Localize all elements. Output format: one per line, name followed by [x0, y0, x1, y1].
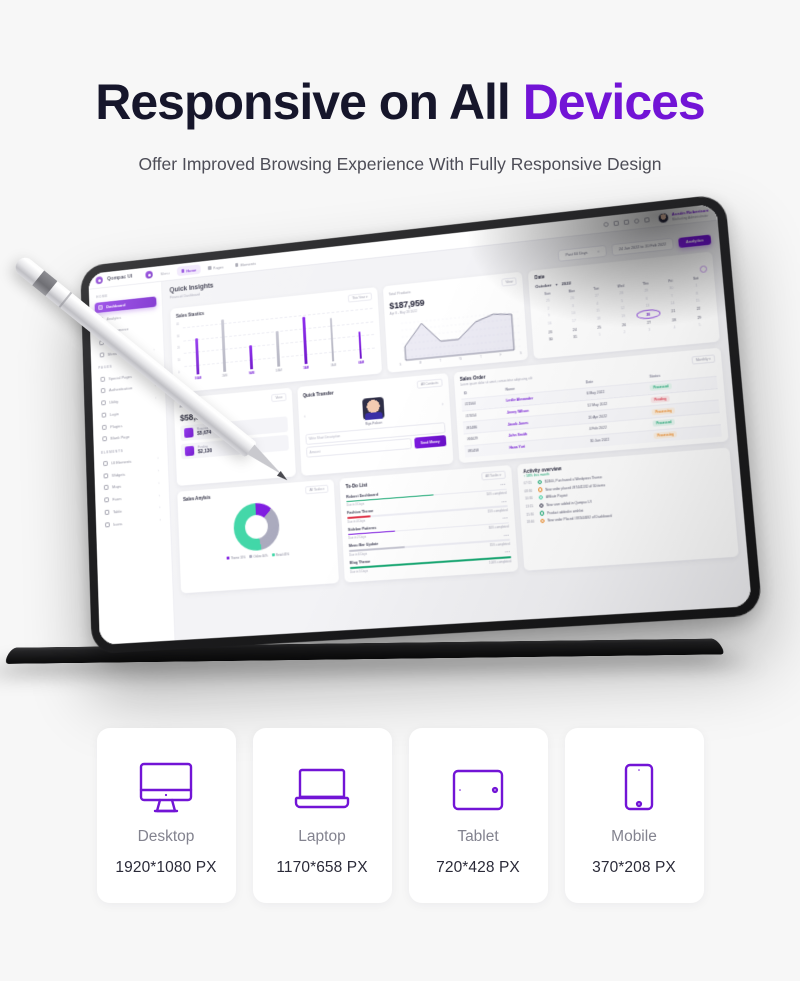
device-resolution: 1170*658 PX: [276, 859, 367, 877]
sales-order-chip[interactable]: Monthly ▾: [691, 354, 715, 365]
activity-text: Affiliate Payout: [546, 494, 568, 500]
total-products-card: Total Products View $187,959 Apr 8 - May…: [382, 271, 528, 373]
sidebar-label: Analytics: [107, 315, 122, 321]
filter-label: This Year: [352, 295, 365, 300]
sidebar-heading-elements: ELEMENTS: [101, 445, 162, 454]
sidebar-label: Form: [112, 496, 121, 501]
activity-time: 08:30: [524, 488, 534, 493]
more-options-icon[interactable]: •••: [504, 532, 510, 538]
sidebar-label: Authentication: [109, 386, 132, 393]
todo-pct: 30% completed: [488, 525, 508, 531]
sidebar-label: Icons: [113, 521, 122, 527]
activity-time: 07:15: [524, 480, 534, 485]
more-options-icon[interactable]: •••: [502, 515, 508, 520]
maps-icon: [104, 485, 109, 490]
device-resolution: 1920*1080 PX: [115, 859, 216, 877]
page-title: Responsive on All Devices: [0, 74, 800, 130]
todo-due: Due in 4 Days: [347, 519, 365, 524]
legend-item: Retail 45%: [271, 552, 289, 557]
todo-name: Menu Bar Update: [349, 542, 379, 548]
fullscreen-icon[interactable]: [644, 217, 650, 223]
chevron-right-icon: ›: [155, 384, 156, 388]
bar-label: 1AM: [303, 366, 309, 370]
more-options-icon[interactable]: •••: [505, 549, 511, 555]
x-tick: T: [439, 360, 441, 363]
status-badge: Processed: [650, 383, 672, 391]
todo-pct: 35% completed: [490, 542, 510, 548]
sidebar-label: Dashboard: [106, 303, 125, 310]
todo-list-chip[interactable]: All Tasks ▾: [481, 470, 505, 480]
pages-icon: [208, 266, 211, 270]
legend-label: Online: [253, 554, 261, 559]
todo-list-card: To-Do List All Tasks ▾ Robust Dashboard•…: [339, 465, 518, 583]
x-tick: T: [480, 356, 482, 359]
calendar-day[interactable]: 3: [637, 326, 661, 335]
bar-label: 2AM: [222, 373, 227, 377]
todo-due: Due in 3 Days: [346, 502, 364, 507]
sales-statistics-title: Sales Stastics: [176, 311, 204, 319]
prev-contact-arrow[interactable]: ‹: [304, 414, 306, 420]
chevron-right-icon: ›: [154, 372, 155, 376]
sidebar-label: Login: [110, 411, 119, 417]
activity-time: 15:30: [526, 512, 536, 517]
x-tick: S: [520, 352, 522, 355]
cart-icon[interactable]: [624, 219, 630, 224]
activity-dot-icon: [540, 519, 545, 524]
cell-id: #85458: [464, 442, 507, 457]
donut: [233, 501, 281, 552]
chip-label: All Tasks: [485, 473, 498, 478]
analytics-icon: [99, 317, 104, 322]
icons-icon: [105, 522, 110, 527]
activity-dot-icon: [538, 495, 543, 500]
device-name: Mobile: [611, 828, 657, 846]
bar-column: 1AM: [290, 309, 320, 371]
calendar-year[interactable]: 2022: [561, 280, 571, 286]
topnav-item-elements[interactable]: Elements: [231, 258, 260, 270]
calendar-month[interactable]: October: [535, 282, 551, 289]
menu-style-icon: [100, 353, 105, 358]
sidebar: HOME Dashboard Analytics E: [89, 282, 176, 645]
todo-due: Due in 5 Days: [350, 568, 368, 573]
x-tick: M: [419, 362, 421, 365]
analytics-button[interactable]: Analytics: [678, 234, 711, 247]
page-title-accent: Devices: [523, 74, 705, 130]
sidebar-label: Widgets: [112, 472, 126, 478]
todo-due: Due in 6 Days: [349, 552, 367, 557]
todo-pct: 15% completed: [487, 508, 507, 514]
sales-statistics-filter[interactable]: This Year ▾: [348, 292, 372, 302]
calendar-card: Date October ▾ 2022 Sun: [528, 251, 720, 359]
bar-label: 6AM: [358, 360, 364, 364]
range-select[interactable]: Past 60 Days ▾: [558, 245, 607, 262]
chevron-right-icon: ›: [159, 506, 160, 510]
chevron-right-icon: ›: [157, 457, 158, 461]
todo-pct: 50% completed: [486, 491, 506, 497]
activity-dot-icon: [539, 503, 544, 508]
sidebar-label: Crypto: [107, 339, 118, 345]
tablet-frame: Qompac UI Menu Home Pages: [80, 194, 763, 655]
dashboard-app: Qompac UI Menu Home Pages: [88, 204, 752, 645]
device-card-laptop[interactable]: Laptop 1170*658 PX: [253, 728, 392, 903]
activity-text: Product added in wishlist: [547, 508, 584, 515]
language-icon[interactable]: [613, 220, 618, 225]
device-card-desktop[interactable]: Desktop 1920*1080 PX: [97, 728, 236, 903]
legend-value: 45%: [284, 552, 290, 556]
account-balance-card: Account Balance View $58,556 Required: [174, 388, 296, 486]
legend-item: Online 40%: [249, 554, 268, 559]
y-tick: 40: [176, 323, 179, 326]
y-tick: 0: [178, 371, 181, 374]
sales-analysis-title: Sales Anylsis: [183, 495, 211, 502]
search-icon[interactable]: [603, 221, 608, 226]
nav-brand-icon: [146, 271, 153, 279]
todo-name: Robust Dashboard: [346, 492, 378, 498]
x-tick: S: [400, 364, 402, 367]
total-products-title: Total Products: [389, 290, 411, 296]
chevron-right-icon: ›: [153, 348, 154, 352]
home-icon: [181, 269, 184, 273]
date-range-input[interactable]: 24 Jan 2022 to 20 Feb 2022: [611, 238, 674, 256]
page-title-main: Responsive on All: [95, 74, 522, 130]
bar-chart-y-axis: 40 30 20 10 0: [176, 323, 181, 374]
status-badge: Processing: [652, 407, 675, 415]
status-badge: Pending: [651, 395, 670, 403]
more-options-icon[interactable]: •••: [501, 499, 507, 504]
stylus-ring: [59, 292, 73, 308]
page-root: Responsive on All Devices Offer Improved…: [0, 0, 800, 981]
sidebar-label: Table: [113, 509, 122, 515]
todo-pct: 100% completed: [489, 559, 511, 565]
legend-label: Retail: [276, 553, 283, 557]
device-card-mobile[interactable]: Mobile 370*208 PX: [565, 728, 704, 903]
ecommerce-icon: [99, 329, 104, 334]
brand-name: Qompac UI: [107, 274, 132, 282]
quick-transfer-chip[interactable]: All Contacts: [417, 379, 443, 390]
sidebar-label: Utility: [109, 399, 118, 405]
brand-logo-icon: [96, 276, 103, 284]
calendar-today-icon[interactable]: [699, 265, 707, 273]
bar-column: 2AM: [209, 317, 238, 379]
avatar: [657, 212, 669, 224]
quick-transfer-card: Quick Transfer All Contacts ‹ Riya Falco…: [297, 373, 453, 475]
tile-value: $2,130: [198, 448, 212, 455]
sales-order-card: Sales Order Lorem ipsum dolor sit amet, …: [453, 348, 728, 463]
notification-icon[interactable]: [634, 218, 640, 224]
tablet-mockup: Qompac UI Menu Home Pages: [0, 222, 800, 712]
calendar-day[interactable]: 5: [688, 321, 713, 330]
send-money-button[interactable]: Send Money: [414, 435, 446, 448]
device-resolution: 720*428 PX: [436, 859, 520, 877]
ui-elements-icon: [103, 461, 108, 466]
todo-name: Blog Theme: [350, 559, 371, 564]
pending-icon: [185, 446, 195, 456]
user-profile[interactable]: Austin Robertson Marketing Administrator: [657, 207, 709, 224]
dashboard-main: Quick Insights Financial Dashboard Past …: [162, 221, 752, 641]
todo-name: Sidebar Patterns: [348, 526, 377, 532]
device-card-tablet[interactable]: Tablet 720*428 PX: [409, 728, 548, 903]
widgets-icon: [104, 473, 109, 478]
device-resolution: 370*208 PX: [592, 859, 676, 877]
y-tick: 10: [178, 359, 181, 362]
chevron-down-icon: ▾: [598, 249, 600, 253]
topnav-label-elements: Elements: [240, 261, 256, 267]
desktop-icon: [135, 754, 197, 826]
topnav-label-home: Home: [186, 267, 196, 273]
login-icon: [102, 412, 107, 417]
x-tick: F: [500, 354, 502, 357]
status-badge: Processing: [654, 431, 677, 439]
device-name: Tablet: [457, 828, 498, 846]
next-contact-arrow[interactable]: ›: [442, 401, 444, 407]
bar-column: 10AM: [263, 312, 293, 374]
elements-icon: [235, 263, 238, 267]
topnav-item-home[interactable]: Home: [177, 264, 201, 276]
account-balance-title: Account Balance: [179, 403, 204, 409]
date-range-value: 24 Jan 2022 to 20 Feb 2022: [619, 242, 667, 251]
account-balance-chip[interactable]: View: [272, 393, 287, 402]
y-tick: 20: [177, 347, 180, 350]
calendar-day[interactable]: 30: [539, 335, 563, 343]
activity-text: $2400, Purchased a Wordpress Theme: [545, 475, 602, 484]
bar-column: 3AM: [317, 306, 348, 369]
hero-section: Responsive on All Devices Offer Improved…: [0, 0, 800, 175]
bar-label: 10AM: [275, 368, 282, 373]
range-select-value: Past 60 Days: [565, 251, 587, 257]
chevron-right-icon: ›: [158, 469, 159, 473]
legend-value: 40%: [262, 554, 268, 558]
device-name: Laptop: [298, 828, 345, 846]
calendar-day[interactable]: 4: [662, 323, 686, 332]
sales-analysis-chip[interactable]: All Tasks ▾: [305, 484, 328, 494]
tablet-icon: [450, 754, 506, 826]
more-options-icon[interactable]: •••: [500, 482, 506, 487]
form-icon: [104, 497, 109, 502]
sidebar-label: E-Commerce: [107, 326, 129, 333]
activity-text: New user added in Qompac UI: [546, 500, 591, 507]
sidebar-label: Menu Style: [108, 350, 126, 357]
contact-avatar: [362, 397, 384, 421]
activity-overview-card: Activity overview ↑ 58% this month 07:15…: [517, 447, 739, 571]
activity-time: 10:30: [525, 496, 535, 501]
topnav-label-pages: Pages: [213, 264, 224, 270]
topnav-item-pages[interactable]: Pages: [204, 261, 228, 273]
tablet-screen: Qompac UI Menu Home Pages: [88, 204, 752, 645]
growth-value: 58% this month: [526, 472, 549, 478]
device-name: Desktop: [138, 828, 195, 846]
required-icon: [184, 428, 194, 438]
plugins-icon: [102, 425, 107, 430]
chip-label: All Tasks: [309, 487, 322, 492]
calendar-day[interactable]: 31: [563, 333, 587, 341]
chevron-right-icon: ›: [158, 481, 159, 485]
chevron-down-icon: ▾: [555, 281, 557, 286]
topnav-item-menu[interactable]: Menu: [156, 267, 173, 278]
blank-page-icon: [102, 437, 107, 442]
legend-item: Theme 15%: [226, 555, 245, 560]
status-badge: Processed: [653, 419, 675, 427]
page-subtitle: Offer Improved Browsing Experience With …: [0, 154, 800, 175]
activity-text: New order Placed #87444692 of Dashboard: [547, 514, 612, 523]
sidebar-label: Special Pages: [108, 374, 132, 381]
bar-label: 10AM: [195, 376, 202, 380]
chevron-right-icon: ›: [160, 519, 161, 523]
table-icon: [105, 510, 110, 515]
activity-time: 18:40: [527, 520, 537, 525]
sales-analysis-donut-chart: [183, 496, 331, 558]
sidebar-label: Blank Page: [110, 435, 129, 441]
todo-name: Fashion Theme: [347, 509, 374, 515]
total-products-chip[interactable]: View: [501, 277, 517, 287]
sidebar-label: Plugins: [110, 423, 122, 429]
bar-column: 10AM: [183, 320, 212, 381]
y-tick: 30: [177, 335, 180, 338]
sidebar-label: UI Elements: [111, 459, 131, 465]
bar-column: 6AM: [344, 303, 375, 366]
chevron-right-icon: ›: [155, 396, 156, 400]
todo-due: Due in 2 Days: [348, 535, 366, 540]
quick-transfer-title: Quick Transfer: [303, 390, 334, 398]
tile-value: $5,674: [197, 430, 211, 437]
bar-column: 9AM: [236, 314, 266, 376]
activity-dot-icon: [537, 480, 542, 485]
device-cards: Desktop 1920*1080 PX Laptop 1170*658 PX: [0, 728, 800, 903]
calendar-day[interactable]: 1: [588, 331, 612, 339]
bar-label: 9AM: [249, 371, 255, 375]
legend-label: Theme: [231, 556, 240, 561]
dashboard-body: HOME Dashboard Analytics E: [89, 221, 752, 645]
legend-value: 15%: [240, 555, 246, 559]
dashboard-icon: [98, 305, 103, 310]
activity-time: 13:15: [526, 504, 536, 509]
sales-analysis-card: Sales Anylsis All Tasks ▾: [177, 479, 339, 593]
chip-label: Monthly: [696, 357, 709, 362]
todo-list-title: To-Do List: [345, 483, 367, 490]
chevron-right-icon: ›: [159, 494, 160, 498]
laptop-icon: [291, 754, 353, 826]
sidebar-label: Maps: [112, 484, 121, 490]
special-pages-icon: [100, 376, 105, 381]
activity-dot-icon: [538, 487, 543, 492]
mobile-icon: [614, 754, 654, 826]
utility-icon: [101, 400, 106, 405]
x-tick: W: [459, 358, 462, 361]
stylus-flat-edge: [32, 270, 57, 295]
calendar-day[interactable]: 2: [613, 328, 637, 336]
bar-label: 3AM: [331, 363, 337, 367]
crypto-icon: [99, 341, 104, 346]
calendar-day[interactable]: 13: [635, 302, 659, 311]
activity-dot-icon: [539, 511, 544, 516]
authentication-icon: [101, 388, 106, 393]
